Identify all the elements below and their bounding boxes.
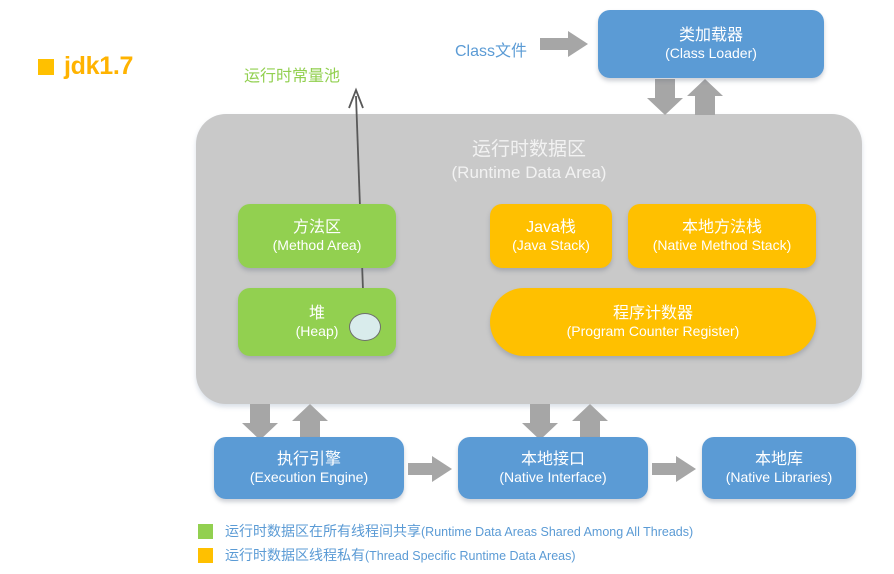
method-area-box[interactable]: 方法区 (Method Area) xyxy=(238,204,396,268)
program-counter-register-label-en: (Program Counter Register) xyxy=(567,323,740,340)
native-method-stack-label-en: (Native Method Stack) xyxy=(653,237,792,254)
class-loader-up-arrow-icon xyxy=(687,79,723,115)
native-interface-label-en: (Native Interface) xyxy=(499,469,606,486)
page-title-label: jdk1.7 xyxy=(64,54,133,79)
orange-square-bullet-icon xyxy=(38,59,54,75)
program-counter-register-box[interactable]: 程序计数器 (Program Counter Register) xyxy=(490,288,816,356)
native-interface-down-arrow-icon xyxy=(522,404,558,440)
legend: 运行时数据区在所有线程间共享(Runtime Data Areas Shared… xyxy=(198,521,693,565)
legend-swatch-green-icon xyxy=(198,524,213,539)
runtime-data-area-title: 运行时数据区 (Runtime Data Area) xyxy=(196,138,862,184)
heap-label-cn: 堆 xyxy=(309,304,325,324)
legend-label-thread-private-en: (Thread Specific Runtime Data Areas) xyxy=(365,549,576,563)
native-libraries-box[interactable]: 本地库 (Native Libraries) xyxy=(702,437,856,499)
class-file-arrow-icon xyxy=(540,31,588,57)
diagram-canvas: jdk1.7 运行时数据区 (Runtime Data Area) xyxy=(0,0,894,574)
runtime-data-area-title-cn: 运行时数据区 xyxy=(472,139,586,160)
class-file-label: Class文件 xyxy=(455,37,527,61)
native-interface-to-libraries-arrow-icon xyxy=(652,456,696,482)
native-interface-label-cn: 本地接口 xyxy=(521,450,585,470)
execution-engine-label-cn: 执行引擎 xyxy=(277,450,341,470)
legend-label-thread-private: 运行时数据区线程私有(Thread Specific Runtime Data … xyxy=(225,545,576,565)
method-area-label-cn: 方法区 xyxy=(293,218,341,238)
native-method-stack-box[interactable]: 本地方法栈 (Native Method Stack) xyxy=(628,204,816,268)
legend-label-thread-private-cn: 运行时数据区线程私有 xyxy=(225,547,365,563)
page-title: jdk1.7 xyxy=(38,54,133,79)
execution-engine-box[interactable]: 执行引擎 (Execution Engine) xyxy=(214,437,404,499)
legend-swatch-orange-icon xyxy=(198,548,213,563)
class-loader-label-en: (Class Loader) xyxy=(665,45,757,62)
native-interface-up-arrow-icon xyxy=(572,404,608,440)
class-loader-label-cn: 类加载器 xyxy=(679,26,743,46)
constant-pool-marker-ellipse xyxy=(349,313,381,341)
native-method-stack-label-cn: 本地方法栈 xyxy=(682,218,762,238)
legend-label-shared-cn: 运行时数据区在所有线程间共享 xyxy=(225,523,421,539)
execution-engine-down-arrow-icon xyxy=(242,404,278,440)
legend-label-shared-en: (Runtime Data Areas Shared Among All Thr… xyxy=(421,525,693,539)
native-libraries-label-en: (Native Libraries) xyxy=(726,469,833,486)
java-stack-label-en: (Java Stack) xyxy=(512,237,590,254)
class-loader-down-arrow-icon xyxy=(647,79,683,115)
runtime-data-area-title-en: (Runtime Data Area) xyxy=(196,162,862,184)
java-stack-label-cn: Java栈 xyxy=(526,218,576,238)
heap-label-en: (Heap) xyxy=(296,323,339,340)
class-loader-box[interactable]: 类加载器 (Class Loader) xyxy=(598,10,824,78)
native-libraries-label-cn: 本地库 xyxy=(755,450,803,470)
native-interface-box[interactable]: 本地接口 (Native Interface) xyxy=(458,437,648,499)
legend-item-thread-private: 运行时数据区线程私有(Thread Specific Runtime Data … xyxy=(198,545,693,565)
legend-label-shared: 运行时数据区在所有线程间共享(Runtime Data Areas Shared… xyxy=(225,521,693,541)
method-area-label-en: (Method Area) xyxy=(273,237,362,254)
java-stack-box[interactable]: Java栈 (Java Stack) xyxy=(490,204,612,268)
execution-engine-up-arrow-icon xyxy=(292,404,328,440)
execution-engine-label-en: (Execution Engine) xyxy=(250,469,368,486)
exec-to-native-interface-arrow-icon xyxy=(408,456,452,482)
legend-item-shared: 运行时数据区在所有线程间共享(Runtime Data Areas Shared… xyxy=(198,521,693,541)
constant-pool-label: 运行时常量池 xyxy=(244,62,340,86)
program-counter-register-label-cn: 程序计数器 xyxy=(613,304,693,324)
